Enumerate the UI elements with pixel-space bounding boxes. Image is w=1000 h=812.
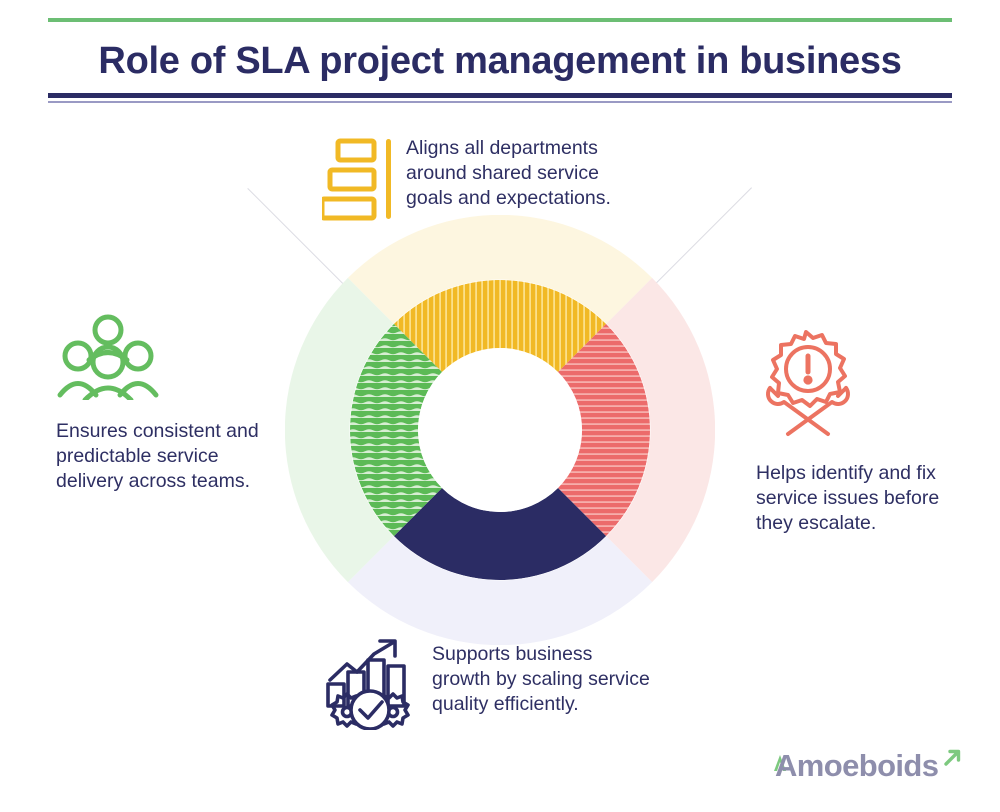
callout-top-label: Aligns all departments around shared ser… <box>406 134 642 211</box>
callout-left-label: Ensures consistent and predictable servi… <box>56 419 266 494</box>
donut-center-hub <box>418 348 582 512</box>
brand-logo-text: Amoeboids <box>775 749 938 783</box>
callout-right-label: Helps identify and fix service issues be… <box>756 461 966 536</box>
donut-chart <box>285 215 715 645</box>
page-title: Role of SLA project management in busine… <box>48 36 952 86</box>
arrow-up-right-icon <box>941 748 963 770</box>
header-top-rule <box>48 18 952 22</box>
brand-logo[interactable]: Amoeboids <box>772 748 963 784</box>
header-thin-rule <box>48 101 952 103</box>
bar-chart-horizontal-icon <box>322 134 394 222</box>
gear-alert-wrenches-icon <box>756 425 856 442</box>
callout-top: Aligns all departments around shared ser… <box>322 134 642 222</box>
people-group-icon <box>56 387 160 404</box>
header-thick-rule <box>48 93 952 98</box>
callout-right: Helps identify and fix service issues be… <box>756 328 966 536</box>
callout-bottom: Supports business growth by scaling serv… <box>322 634 652 730</box>
callout-bottom-label: Supports business growth by scaling serv… <box>432 634 652 717</box>
infographic-page: Role of SLA project management in busine… <box>0 0 1000 812</box>
callout-left: Ensures consistent and predictable servi… <box>56 312 266 494</box>
growth-chart-gears-icon <box>322 634 418 730</box>
